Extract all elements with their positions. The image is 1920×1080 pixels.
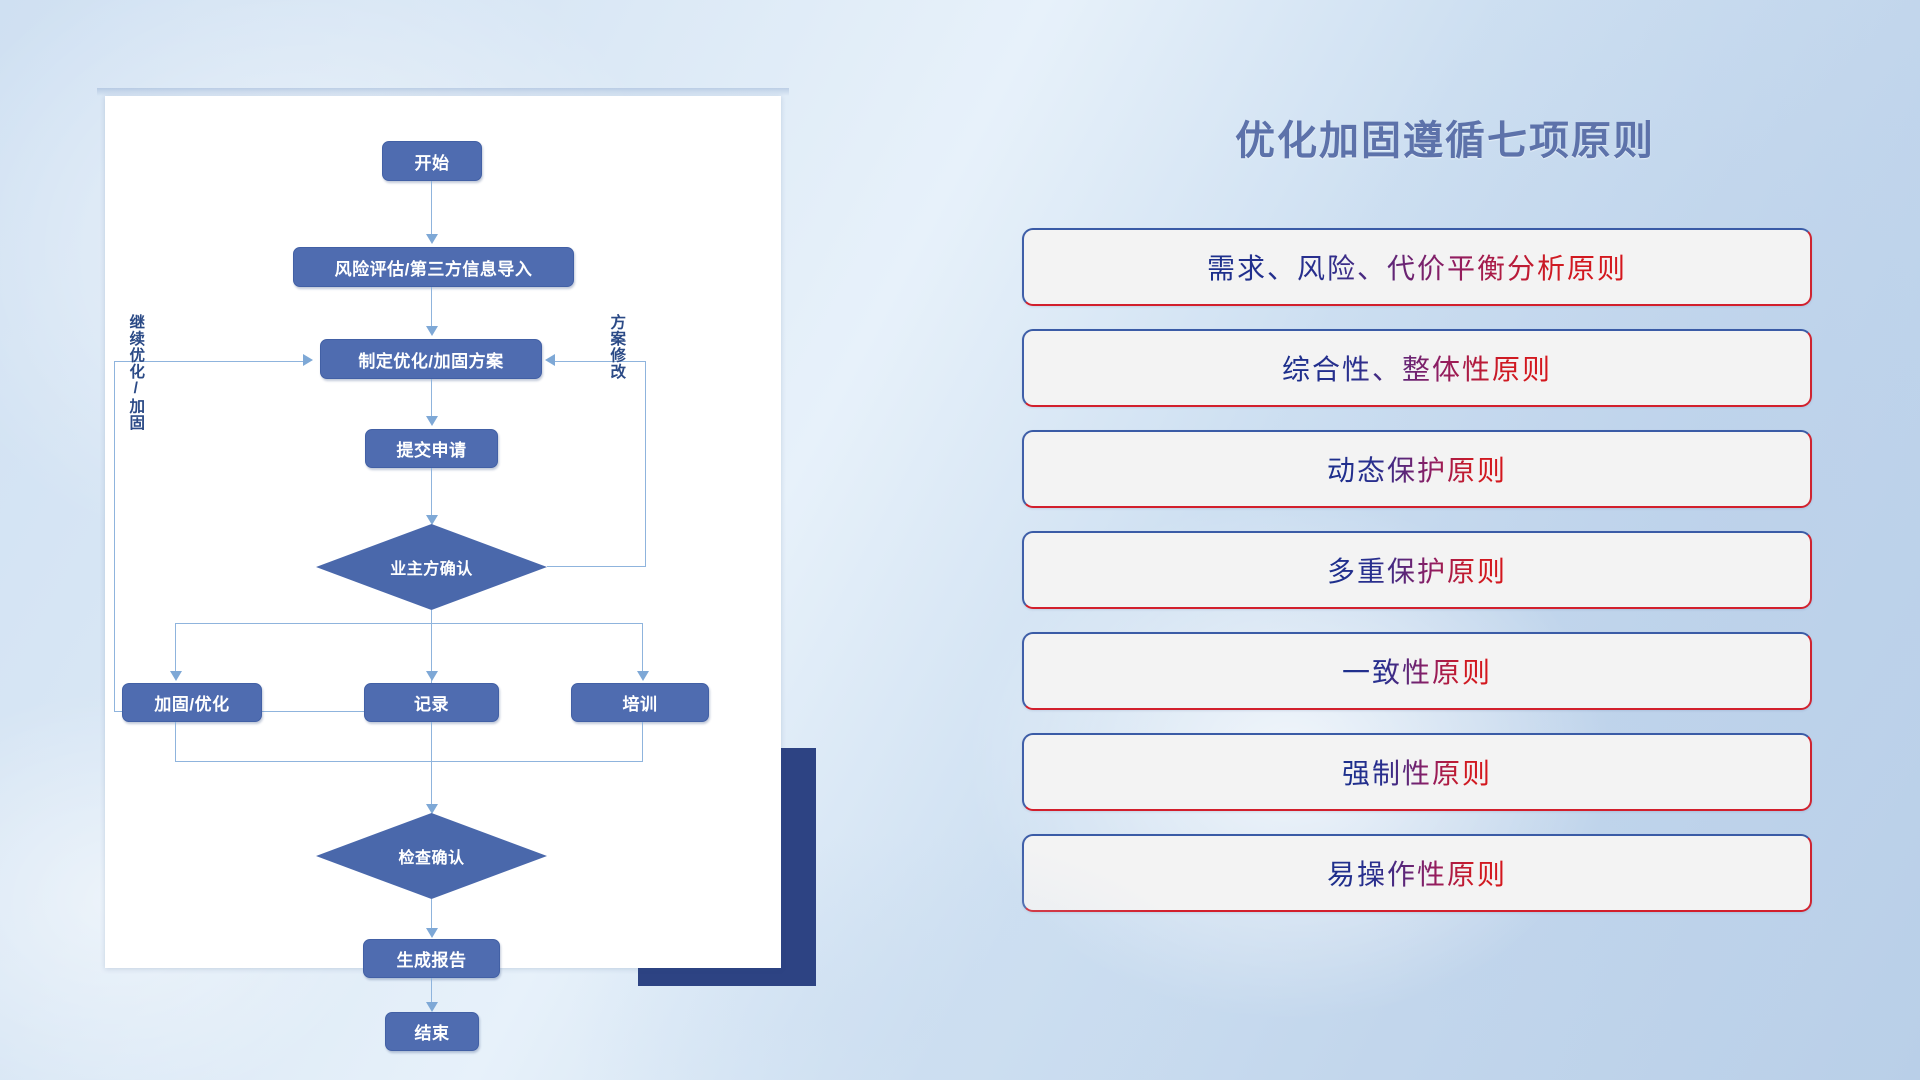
- arrow-down-icon: [426, 515, 438, 525]
- arrow-down-icon: [426, 416, 438, 426]
- arrow-left-icon: [545, 354, 555, 366]
- flow-node-generate-report[interactable]: 生成报告: [363, 939, 500, 978]
- merge-left-riser: [175, 722, 176, 762]
- principle-label: 多重保护原则: [1327, 550, 1507, 590]
- arrow-down-icon: [637, 671, 649, 681]
- branch-left-drop: [175, 623, 176, 675]
- slide-canvas: 开始 风险评估/第三方信息导入 制定优化/加固方案 提交申请: [0, 0, 1920, 1080]
- page-title: 优化加固遵循七项原则: [1030, 108, 1860, 166]
- branch-right-drop: [642, 623, 643, 675]
- flow-node-label: 提交申请: [397, 436, 467, 461]
- merge-right-riser: [642, 722, 643, 762]
- principle-card-5[interactable]: 一致性原则: [1022, 632, 1812, 710]
- flow-node-label: 风险评估/第三方信息导入: [335, 255, 533, 280]
- arrow-down-icon: [426, 1002, 438, 1012]
- merge-bar: [175, 761, 643, 762]
- flow-node-label: 开始: [415, 149, 450, 174]
- flowchart-canvas: 开始 风险评估/第三方信息导入 制定优化/加固方案 提交申请: [105, 96, 781, 968]
- flow-node-label: 业主方确认: [390, 555, 473, 579]
- loop-right-vertical: [645, 361, 646, 567]
- principle-label: 易操作性原则: [1327, 853, 1507, 893]
- principles-list: 需求、风险、代价平衡分析原则 综合性、整体性原则 动态保护原则 多重保护原则 一…: [1022, 228, 1812, 935]
- connector-start-risk: [431, 181, 432, 238]
- flow-node-label: 加固/优化: [154, 690, 229, 715]
- loop-right-top-horizontal: [555, 361, 646, 362]
- loop-left-label: 继续优化/加固: [127, 314, 143, 431]
- flow-decision-owner-confirm[interactable]: 业主方确认: [316, 524, 547, 610]
- principle-label: 动态保护原则: [1327, 449, 1507, 489]
- flow-node-training[interactable]: 培训: [571, 683, 709, 722]
- flow-node-risk-assessment[interactable]: 风险评估/第三方信息导入: [293, 247, 574, 287]
- flow-node-label: 记录: [414, 690, 449, 715]
- arrow-down-icon: [170, 671, 182, 681]
- loop-right-bottom-horizontal: [547, 566, 646, 567]
- principle-label: 一致性原则: [1342, 651, 1492, 691]
- merge-mid-drop: [431, 722, 432, 808]
- arrow-down-icon: [426, 234, 438, 244]
- principle-card-7[interactable]: 易操作性原则: [1022, 834, 1812, 912]
- flow-node-label: 生成报告: [397, 946, 467, 971]
- flow-node-label: 培训: [623, 690, 658, 715]
- flow-node-label: 检查确认: [398, 844, 464, 868]
- flow-node-end[interactable]: 结束: [385, 1012, 479, 1051]
- flow-node-reinforce-optimize[interactable]: 加固/优化: [122, 683, 262, 722]
- branch-distribute-bar: [175, 623, 642, 624]
- connector-submit-owner: [431, 468, 432, 519]
- flow-node-label: 结束: [415, 1019, 450, 1044]
- flowchart-card: 开始 风险评估/第三方信息导入 制定优化/加固方案 提交申请: [105, 96, 781, 968]
- connector-plan-submit: [431, 379, 432, 420]
- flow-node-start[interactable]: 开始: [382, 141, 482, 181]
- loop-left-vertical: [114, 361, 115, 712]
- flow-node-submit-application[interactable]: 提交申请: [365, 429, 498, 468]
- arrow-right-icon: [303, 354, 313, 366]
- principle-card-4[interactable]: 多重保护原则: [1022, 531, 1812, 609]
- principle-label: 强制性原则: [1342, 752, 1492, 792]
- principle-label: 综合性、整体性原则: [1282, 348, 1552, 388]
- flow-node-label: 制定优化/加固方案: [358, 347, 503, 372]
- principle-card-3[interactable]: 动态保护原则: [1022, 430, 1812, 508]
- arrow-down-icon: [426, 671, 438, 681]
- arrow-down-icon: [426, 928, 438, 938]
- flow-node-make-plan[interactable]: 制定优化/加固方案: [320, 339, 542, 379]
- flow-node-record[interactable]: 记录: [364, 683, 499, 722]
- branch-mid-drop: [431, 623, 432, 675]
- principle-card-2[interactable]: 综合性、整体性原则: [1022, 329, 1812, 407]
- principle-label: 需求、风险、代价平衡分析原则: [1207, 247, 1627, 287]
- flow-decision-inspection-confirm[interactable]: 检查确认: [316, 813, 547, 899]
- arrow-down-icon: [426, 804, 438, 814]
- principle-card-6[interactable]: 强制性原则: [1022, 733, 1812, 811]
- principle-card-1[interactable]: 需求、风险、代价平衡分析原则: [1022, 228, 1812, 306]
- loop-right-label: 方案修改: [608, 314, 624, 380]
- arrow-down-icon: [426, 326, 438, 336]
- connector-risk-plan: [431, 287, 432, 330]
